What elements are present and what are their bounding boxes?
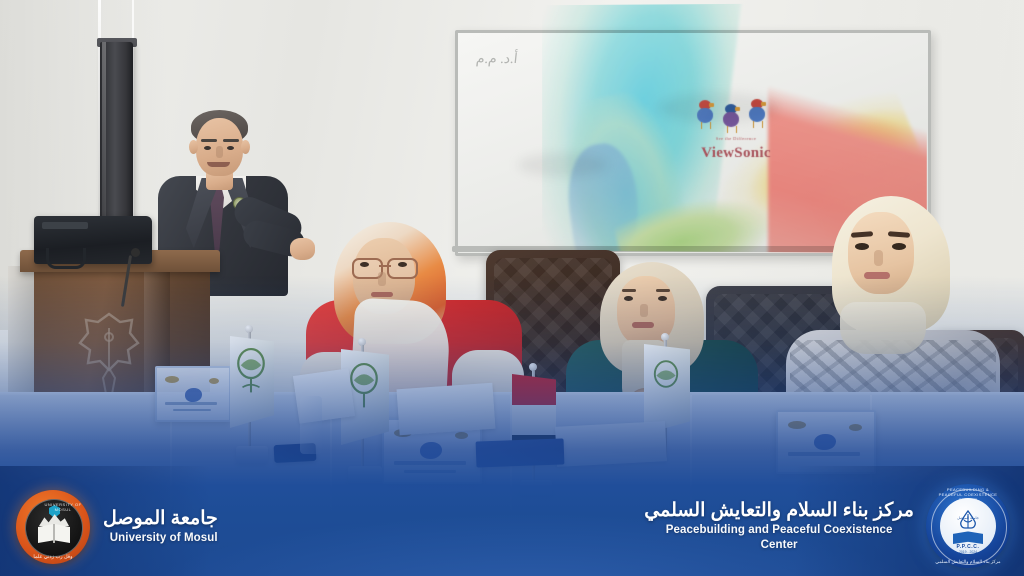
speaker-eye-right: [227, 146, 234, 150]
ppcc-seal-years: 2019 - 2024: [940, 550, 996, 554]
speaker-ear-right: [241, 140, 250, 154]
ppcc-label: مركز بناء السلام والتعايش السلمي Peacebu…: [644, 500, 914, 552]
speaker-hand: [290, 238, 315, 260]
ppcc-seal-bottom-text: مركز بناء السلام والتعايش السلمي: [932, 559, 1004, 565]
university-name-english: University of Mosul: [103, 532, 218, 545]
panelist-1-eye-left: [360, 262, 369, 267]
podium-microphone-head: [131, 248, 140, 257]
center-name-arabic: مركز بناء السلام والتعايش السلمي: [644, 500, 914, 522]
photo-canvas: أ.د. م.م See the Difference ViewSonic: [0, 0, 1024, 576]
seal-book-spine: [53, 524, 55, 543]
seal-top-arc-text: UNIVERSITY OF MOSUL: [40, 502, 86, 518]
speaker-eyebrow-right: [223, 139, 239, 142]
speaker-eye-left: [204, 146, 211, 150]
brand-ppcc: مركز بناء السلام والتعايش السلمي Peacebu…: [644, 484, 1010, 568]
panelist-3-eye-left: [855, 243, 869, 250]
seal-bottom-arc-text: وقل رب زدني علما: [26, 554, 80, 560]
panelist-1-eye-right: [398, 262, 407, 267]
dove-icon: [957, 510, 979, 534]
whiteboard-writing: أ.د. م.م: [475, 51, 518, 68]
seal-inner-disc: UNIVERSITY OF MOSUL: [25, 499, 83, 557]
university-name-arabic: جامعة الموصل: [103, 508, 218, 530]
ppcc-seal-core: جامعة الموصل P.P.C.C. 2019 - 2024: [940, 498, 996, 554]
panelist-3-eye-right: [892, 243, 906, 250]
laptop-bag-handle: [46, 248, 86, 269]
laptop-bag-strap: [42, 222, 88, 229]
university-of-mosul-seal-icon: UNIVERSITY OF MOSUL وقل رب زدني علما: [16, 490, 90, 564]
speaker-mouth: [207, 162, 230, 167]
center-name-english-line2: Center: [644, 539, 914, 552]
ppcc-seal-icon: PEACEBUILDING & PEACEFUL COEXISTENCE CEN…: [926, 484, 1010, 568]
panelist-3-nose: [874, 250, 883, 266]
speaker-eyebrow-left: [201, 139, 217, 142]
center-name-english-line1: Peacebuilding and Peaceful Coexistence: [644, 524, 914, 537]
footer-branding-bar: UNIVERSITY OF MOSUL وقل رب زدني علما جام…: [0, 470, 1024, 576]
brand-university-of-mosul: UNIVERSITY OF MOSUL وقل رب زدني علما جام…: [16, 490, 218, 564]
university-of-mosul-label: جامعة الموصل University of Mosul: [103, 508, 218, 545]
speaker-ear-left: [189, 140, 198, 154]
speaker-nose: [216, 146, 223, 158]
